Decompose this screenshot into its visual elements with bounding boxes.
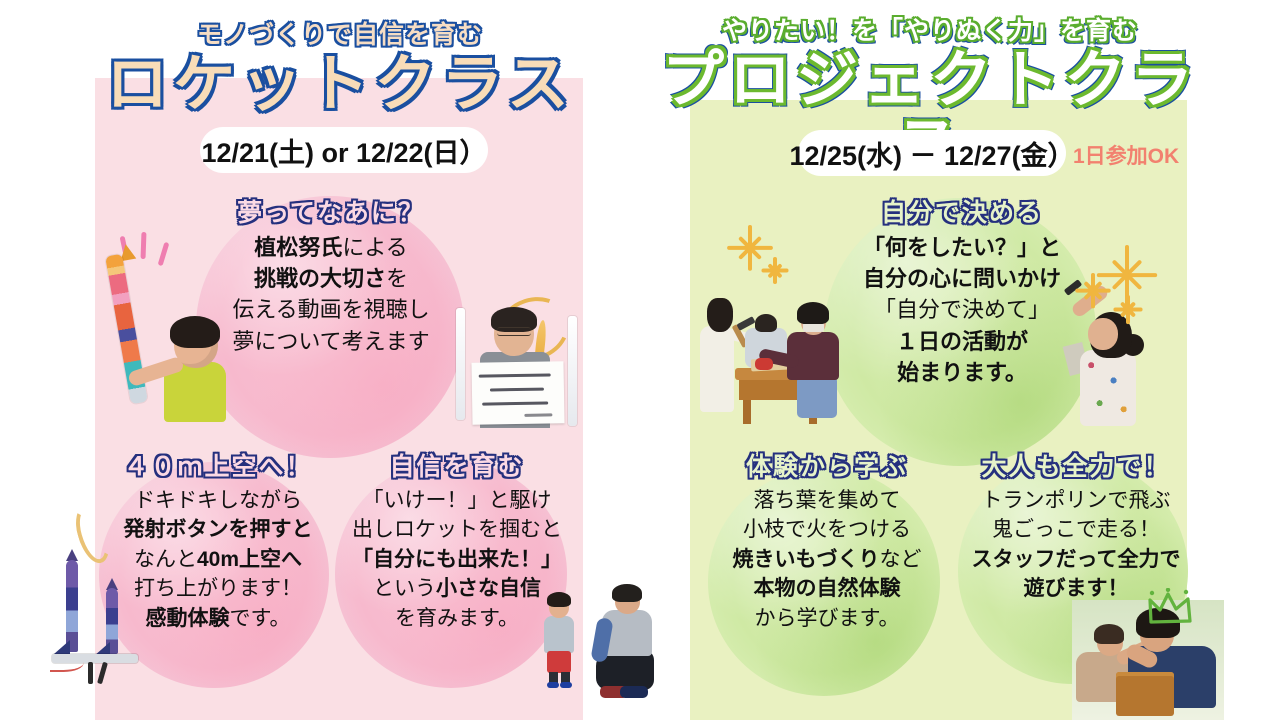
body-line: 自分の心に問いかけ [820, 263, 1104, 294]
body-line: から学びます。 [708, 604, 946, 633]
body-line: ドキドキしながら [96, 486, 340, 515]
section-decide-title: 自分で決める [820, 198, 1104, 228]
body-line: 小枝で火をつける [708, 515, 946, 544]
body-text-bold: 「自分にも出来た！」 [352, 548, 562, 571]
body-line: 始まります。 [820, 357, 1104, 388]
glasses-icon [497, 327, 531, 336]
sign-ink-line [524, 413, 552, 416]
body-text: 伝える動画を視聴し [232, 297, 429, 322]
body-text-bold: 本物の自然体験 [754, 577, 901, 600]
section-dream-title: 夢ってなあに？ [190, 198, 472, 228]
body-line: 鬼ごっこで走る！ [956, 515, 1196, 544]
body-line: 「何をしたい？」と [820, 232, 1104, 263]
section-adults-title: 大人も全力で！ [956, 452, 1196, 482]
body-line: トランポリンで飛ぶ [956, 486, 1196, 515]
body-text: 鬼ごっこで走る！ [992, 518, 1160, 541]
section-learn-body: 落ち葉を集めて小枝で火をつける焼きいもづくりなど本物の自然体験から学びます。 [708, 486, 946, 633]
body-text: 「いけー！」と駆け [363, 489, 552, 512]
body-line: 夢について考えます [190, 326, 472, 357]
section-dream: 夢ってなあに？ 植松努氏による挑戦の大切さを伝える動画を視聴し夢について考えます [190, 198, 472, 357]
body-line: １日の活動が [820, 326, 1104, 357]
section-confidence: 自信を育む 「いけー！」と駆け出しロケットを掴むと「自分にも出来た！」という小さ… [338, 452, 576, 633]
section-adults-body: トランポリンで飛ぶ鬼ごっこで走る！スタッフだって全力で遊びます！ [956, 486, 1196, 604]
body-line: 「自分にも出来た！」 [338, 545, 576, 574]
handwritten-sign-card [471, 361, 564, 425]
body-line: 挑戦の大切さを [190, 263, 472, 294]
body-text-bold: 植松努氏 [254, 235, 342, 260]
body-line: なんと40m上空へ [96, 545, 340, 574]
white-rocket-model [568, 316, 577, 426]
body-text: 夢について考えます [232, 329, 429, 354]
body-text-bold: １日の活動が [896, 329, 1028, 354]
gold-star-sparkle-icon [760, 258, 786, 284]
work-glove [755, 358, 773, 370]
model-rocket-body [66, 560, 78, 652]
one-day-participation-badge: 1日参加OK [1073, 140, 1179, 170]
rocket-class-heading: モノづくりで自信を育む ロケットクラス [60, 22, 620, 117]
pink-sparkle-icon [158, 242, 170, 266]
section-confidence-title: 自信を育む [338, 452, 576, 482]
body-line: スタッフだって全力で [956, 545, 1196, 574]
sign-ink-line [490, 388, 544, 391]
body-text: を育みます。 [395, 607, 519, 630]
body-text-bold: 始まります。 [897, 360, 1027, 385]
body-line: 落ち葉を集めて [708, 486, 946, 515]
body-text-bold: 「何をしたい？」と [863, 235, 1061, 260]
person-hair [612, 584, 642, 602]
section-learn: 体験から学ぶ 落ち葉を集めて小枝で火をつける焼きいもづくりなど本物の自然体験から… [708, 452, 946, 633]
body-text-bold: 焼きいもづくり [733, 548, 880, 571]
section-altitude-body: ドキドキしながら発射ボタンを押すとなんと40m上空へ打ち上がります！感動体験です… [96, 486, 340, 633]
section-adults: 大人も全力で！ トランポリンで飛ぶ鬼ごっこで走る！スタッフだって全力で遊びます！ [956, 452, 1196, 604]
person-shoe [620, 686, 648, 698]
project-class-date-pill: 12/25(水) － 12/27(金） [798, 130, 1066, 176]
adult-hair [1094, 624, 1124, 644]
body-text-bold: 挑戦の大切さ [254, 266, 386, 291]
launch-pad-leg [88, 662, 93, 684]
sign-ink-line [479, 373, 551, 377]
body-line: を育みます。 [338, 604, 576, 633]
body-text: を [386, 266, 408, 291]
rocket-class-title: ロケットクラス [60, 52, 620, 117]
body-text-bold: 発射ボタンを押すと [124, 518, 313, 541]
section-decide: 自分で決める 「何をしたい？」と自分の心に問いかけ「自分で決めて」１日の活動が始… [820, 198, 1104, 388]
body-line: 伝える動画を視聴し [190, 294, 472, 325]
project-class-kicker: やりたい！を「やりぬく力」を育む [650, 18, 1210, 46]
project-class-date-text: 12/25(水) － 12/27(金） [789, 134, 1074, 173]
body-line: という小さな自信 [338, 574, 576, 603]
body-text: ドキドキしながら [134, 489, 302, 512]
wooden-table [1116, 672, 1174, 716]
body-text: から学びます。 [755, 607, 900, 630]
pink-sparkle-icon [141, 232, 147, 259]
section-altitude-title: ４０ｍ上空へ！ [96, 452, 340, 482]
launch-pad-leg [97, 662, 108, 685]
section-confidence-body: 「いけー！」と駆け出しロケットを掴むと「自分にも出来た！」という小さな自信を育み… [338, 486, 576, 633]
body-text: 打ち上がります！ [134, 577, 302, 600]
body-text-bold: 遊びます！ [1024, 577, 1129, 600]
body-text-bold: 40m上空へ [197, 548, 302, 571]
body-text: という [373, 577, 436, 600]
photo-crouching-person [590, 584, 660, 716]
boy-shorts [547, 651, 571, 673]
section-altitude: ４０ｍ上空へ！ ドキドキしながら発射ボタンを押すとなんと40m上空へ打ち上がりま… [96, 452, 340, 633]
section-decide-body: 「何をしたい？」と自分の心に問いかけ「自分で決めて」１日の活動が始まります。 [820, 232, 1104, 388]
body-text: 「自分で決めて」 [874, 297, 1050, 322]
body-text: など [880, 548, 922, 571]
body-text-bold: 感動体験 [146, 607, 230, 630]
gold-star-sparkle-icon [1112, 296, 1140, 324]
section-learn-title: 体験から学ぶ [708, 452, 946, 482]
body-line: 打ち上がります！ [96, 574, 340, 603]
rocket-class-date-pill: 12/21(土) or 12/22(日） [200, 127, 488, 173]
body-text: による [342, 235, 407, 260]
body-line: 感動体験です。 [96, 604, 340, 633]
body-line: 「いけー！」と駆け [338, 486, 576, 515]
poster-canvas: モノづくりで自信を育む ロケットクラス 12/21(土) or 12/22(日）… [0, 0, 1280, 720]
rocket-class-kicker: モノづくりで自信を育む [60, 22, 620, 50]
gold-star-sparkle-icon [1074, 274, 1108, 308]
boy-shoe [560, 682, 572, 688]
rocket-class-date-text: 12/21(土) or 12/22(日） [201, 131, 486, 170]
body-text-bold: スタッフだって全力で [972, 548, 1181, 571]
workbench-leg [743, 398, 751, 424]
body-line: 「自分で決めて」 [820, 294, 1104, 325]
green-crown-doodle-icon [1146, 588, 1200, 630]
body-line: 焼きいもづくりなど [708, 545, 946, 574]
body-line: 植松努氏による [190, 232, 472, 263]
body-text: なんと [134, 548, 197, 571]
body-line: 出しロケットを掴むと [338, 515, 576, 544]
body-text: 落ち葉を集めて [754, 489, 901, 512]
body-text-bold: 自分の心に問いかけ [863, 266, 1061, 291]
section-dream-body: 植松努氏による挑戦の大切さを伝える動画を視聴し夢について考えます [190, 232, 472, 357]
body-text: 出しロケットを掴むと [352, 518, 562, 541]
body-text-bold: 小さな自信 [436, 577, 541, 600]
sign-ink-line [482, 401, 548, 405]
body-line: 発射ボタンを押すと [96, 515, 340, 544]
body-line: 本物の自然体験 [708, 574, 946, 603]
boy-shoe [547, 682, 559, 688]
body-text: 小枝で火をつける [743, 518, 911, 541]
child-hair [755, 314, 777, 332]
launch-wire [50, 656, 84, 672]
child-hair [707, 298, 733, 332]
body-text: トランポリンで飛ぶ [982, 489, 1171, 512]
body-text: です。 [230, 607, 291, 630]
